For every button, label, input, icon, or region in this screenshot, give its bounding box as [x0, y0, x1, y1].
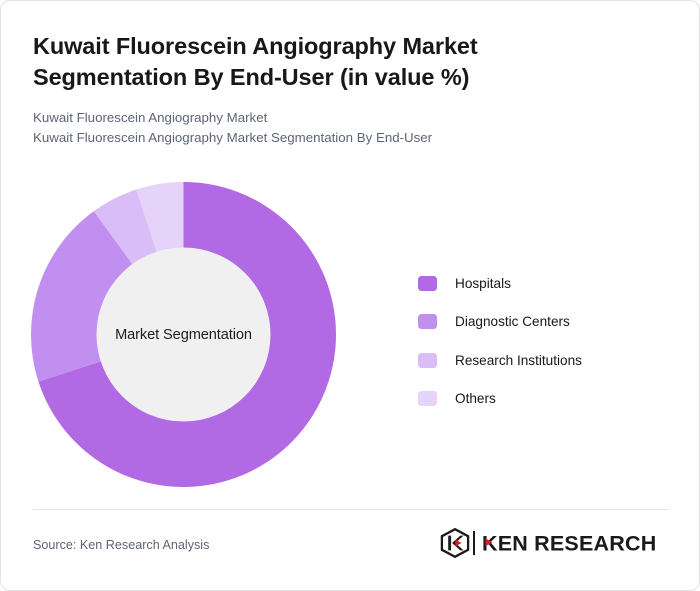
subtitle-line-2: Kuwait Fluorescein Angiography Market Se… [33, 128, 653, 149]
subtitle-line-1: Kuwait Fluorescein Angiography Market [33, 108, 653, 129]
chart-header: Kuwait Fluorescein Angiography Market Se… [33, 31, 653, 149]
page-title: Kuwait Fluorescein Angiography Market Se… [33, 31, 533, 94]
plot-area: Market Segmentation HospitalsDiagnostic … [1, 161, 700, 506]
footer-divider [33, 509, 669, 510]
legend-item-label: Others [455, 391, 496, 406]
breadcrumb: Kuwait Fluorescein Angiography Market Ku… [33, 108, 653, 149]
legend-item-label: Hospitals [455, 276, 511, 291]
legend-swatch-icon [418, 314, 437, 329]
legend-item-label: Diagnostic Centers [455, 314, 570, 329]
legend-swatch-icon [418, 353, 437, 368]
source-note: Source: Ken Research Analysis [33, 538, 209, 552]
chart-card: Kuwait Fluorescein Angiography Market Se… [0, 0, 700, 591]
ken-research-logo: KEN RESEARCH [440, 527, 669, 559]
donut-svg [31, 181, 336, 488]
legend-item[interactable]: Research Institutions [418, 341, 582, 380]
legend-swatch-icon [418, 391, 437, 406]
ken-research-hexagon-k-icon [440, 528, 470, 558]
legend-item[interactable]: Others [418, 380, 582, 419]
legend-swatch-icon [418, 276, 437, 291]
legend-item-label: Research Institutions [455, 353, 582, 368]
ken-research-wordmark-text: KEN RESEARCH [482, 532, 656, 556]
legend-item[interactable]: Hospitals [418, 264, 582, 303]
chart-legend: HospitalsDiagnostic CentersResearch Inst… [418, 264, 582, 418]
donut-center-hole [97, 248, 271, 422]
legend-item[interactable]: Diagnostic Centers [418, 303, 582, 342]
donut-chart: Market Segmentation [31, 181, 336, 488]
ken-research-wordmark: KEN RESEARCH [473, 530, 669, 556]
